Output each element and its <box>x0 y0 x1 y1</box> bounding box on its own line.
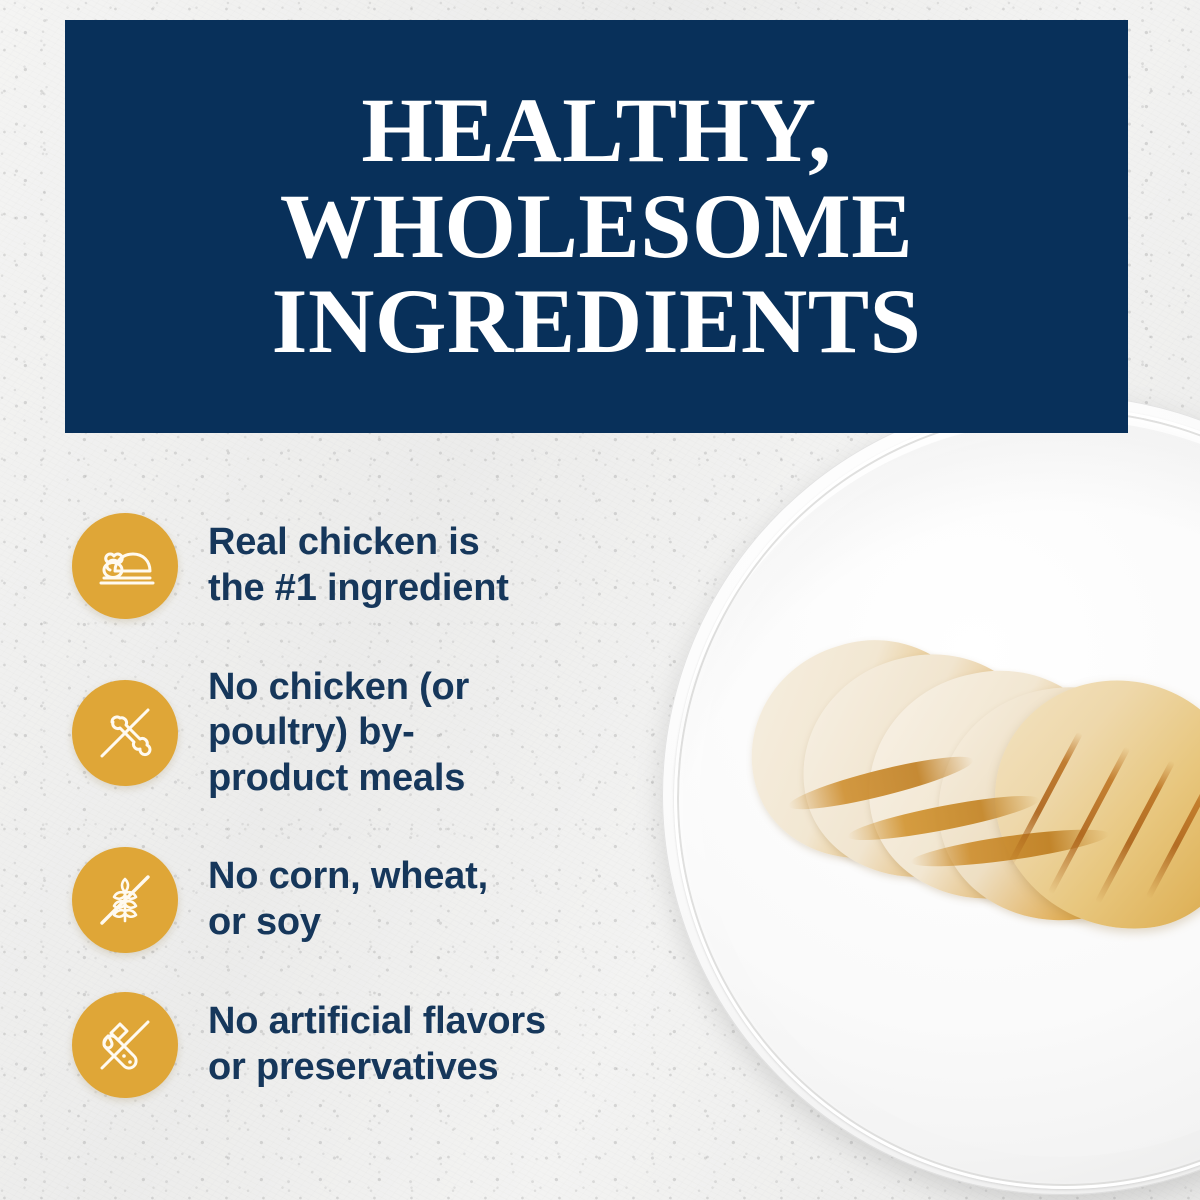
benefit-item-real-chicken: Real chicken is the #1 ingredient <box>72 498 592 634</box>
benefit-line: or preservatives <box>208 1045 546 1091</box>
no-wheat-icon <box>72 847 178 953</box>
title-line-1: HEALTHY, <box>272 83 922 179</box>
benefit-line: Real chicken is <box>208 520 509 566</box>
benefit-line: No chicken (or <box>208 665 469 711</box>
benefits-list: Real chicken is the #1 ingredient No chi… <box>72 498 592 1122</box>
page-title: HEALTHY, WHOLESOME INGREDIENTS <box>252 83 942 370</box>
title-line-2: WHOLESOME <box>272 179 922 275</box>
title-line-3: INGREDIENTS <box>272 274 922 370</box>
benefit-label: No artificial flavors or preservatives <box>208 999 546 1090</box>
benefit-label: No corn, wheat, or soy <box>208 854 488 945</box>
chicken-plate-photo <box>600 380 1200 1200</box>
no-bone-icon <box>72 680 178 786</box>
benefit-label: No chicken (or poultry) by- product meal… <box>208 665 469 802</box>
benefit-line: product meals <box>208 756 469 802</box>
benefit-item-no-grain: No corn, wheat, or soy <box>72 832 592 968</box>
benefit-line: or soy <box>208 900 488 946</box>
marketing-graphic: HEALTHY, WHOLESOME INGREDIENTS Real chic… <box>0 0 1200 1200</box>
benefit-item-no-byproduct: No chicken (or poultry) by- product meal… <box>72 648 592 818</box>
benefit-label: Real chicken is the #1 ingredient <box>208 520 509 611</box>
benefit-line: No artificial flavors <box>208 999 546 1045</box>
no-test-tube-icon <box>72 992 178 1098</box>
benefit-line: the #1 ingredient <box>208 566 509 612</box>
headline-banner: HEALTHY, WHOLESOME INGREDIENTS <box>65 20 1128 433</box>
benefit-item-no-artificial: No artificial flavors or preservatives <box>72 982 592 1108</box>
roast-chicken-platter-icon <box>72 513 178 619</box>
benefit-line: No corn, wheat, <box>208 854 488 900</box>
benefit-line: poultry) by- <box>208 710 469 756</box>
grilled-chicken-breast <box>750 620 1200 980</box>
